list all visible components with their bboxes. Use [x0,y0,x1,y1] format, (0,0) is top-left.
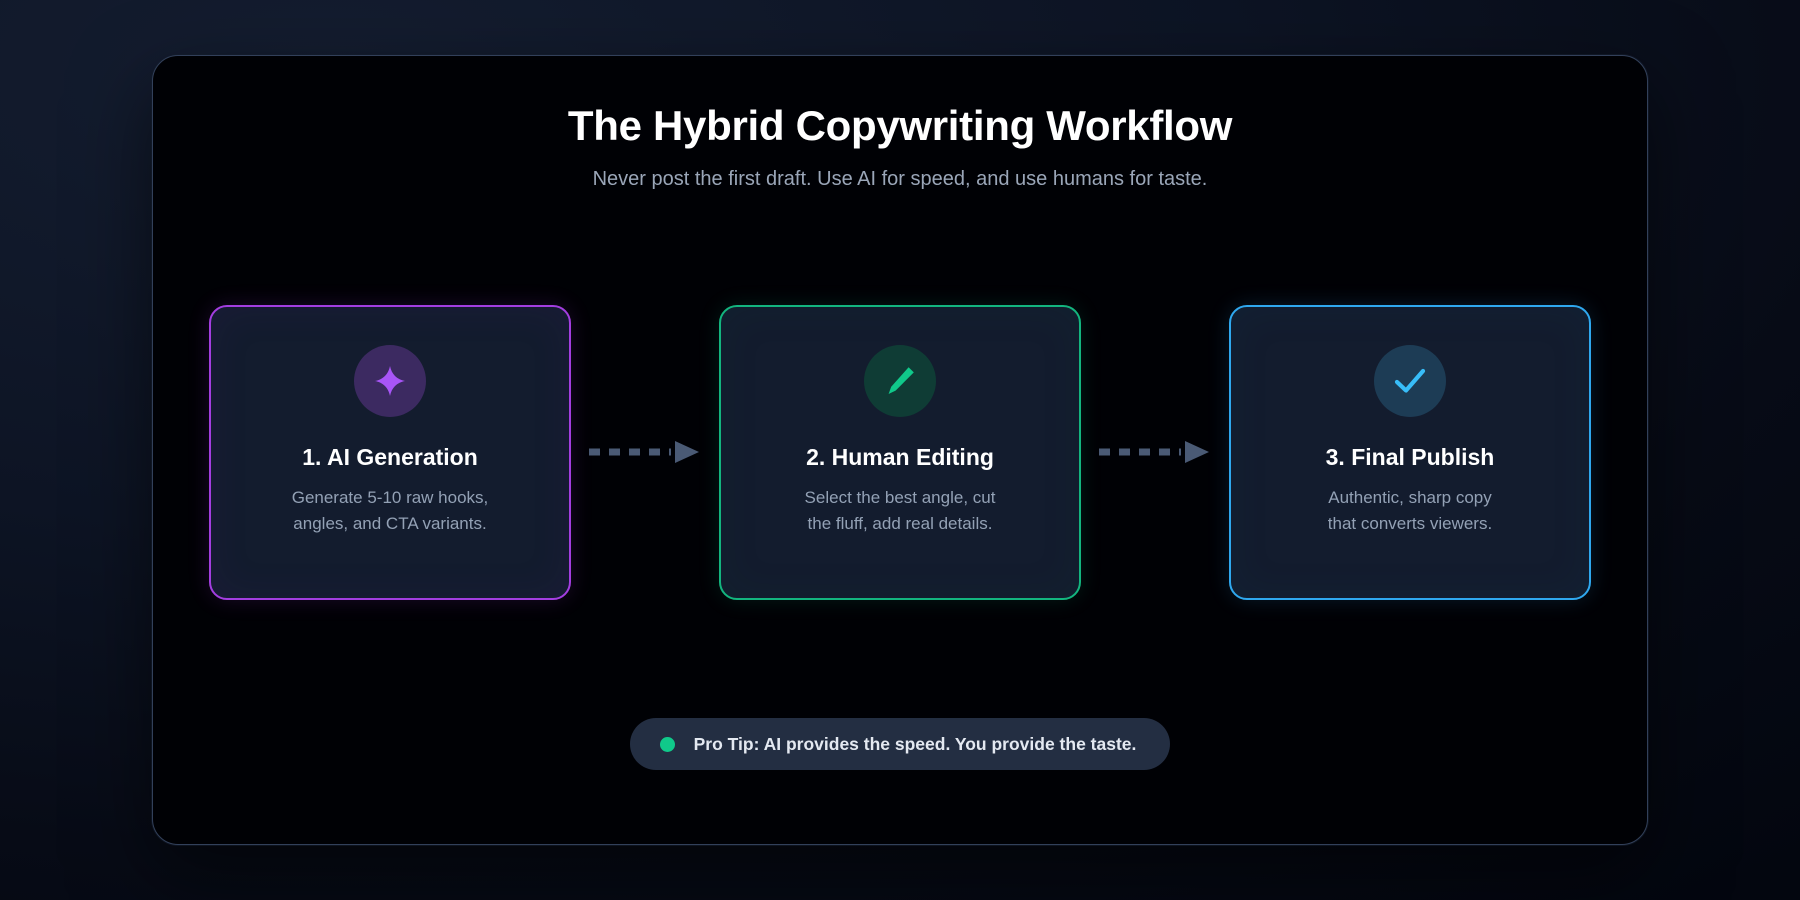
sparkle-icon-badge [354,345,426,417]
pencil-icon-badge [864,345,936,417]
pro-tip-banner: Pro Tip: AI provides the speed. You prov… [630,718,1171,770]
check-icon-badge [1374,345,1446,417]
sparkle-icon [373,364,407,398]
step-description: Authentic, sharp copy that converts view… [1328,485,1492,538]
panel-header: The Hybrid Copywriting Workflow Never po… [209,102,1591,192]
dashed-arrow-right-icon [1097,440,1213,464]
step-description-line: Select the best angle, cut [805,485,996,511]
page-title: The Hybrid Copywriting Workflow [209,102,1591,149]
workflow-panel: The Hybrid Copywriting Workflow Never po… [152,55,1648,845]
step-description-line: Authentic, sharp copy [1328,485,1492,511]
connector-2 [1081,437,1229,467]
pro-tip-text: Pro Tip: AI provides the speed. You prov… [694,734,1137,755]
connector-1 [571,437,719,467]
step-description: Select the best angle, cut the fluff, ad… [805,485,996,538]
check-icon [1392,363,1428,399]
workflow-flow: 1. AI Generation Generate 5-10 raw hooks… [209,192,1591,712]
page-subtitle: Never post the first draft. Use AI for s… [209,166,1591,192]
step-card-final-publish[interactable]: 3. Final Publish Authentic, sharp copy t… [1229,305,1591,600]
step-card-ai-generation[interactable]: 1. AI Generation Generate 5-10 raw hooks… [209,305,571,600]
step-description-line: Generate 5-10 raw hooks, [292,485,489,511]
step-card-human-editing[interactable]: 2. Human Editing Select the best angle, … [719,305,1081,600]
step-description-line: that converts viewers. [1328,511,1492,537]
pencil-icon [883,364,917,398]
step-title: 2. Human Editing [806,444,994,472]
status-dot-icon [660,737,675,752]
step-description: Generate 5-10 raw hooks, angles, and CTA… [292,485,489,538]
step-description-line: the fluff, add real details. [805,511,996,537]
step-description-line: angles, and CTA variants. [292,511,489,537]
step-title: 3. Final Publish [1326,444,1495,472]
step-title: 1. AI Generation [302,444,478,472]
dashed-arrow-right-icon [587,440,703,464]
